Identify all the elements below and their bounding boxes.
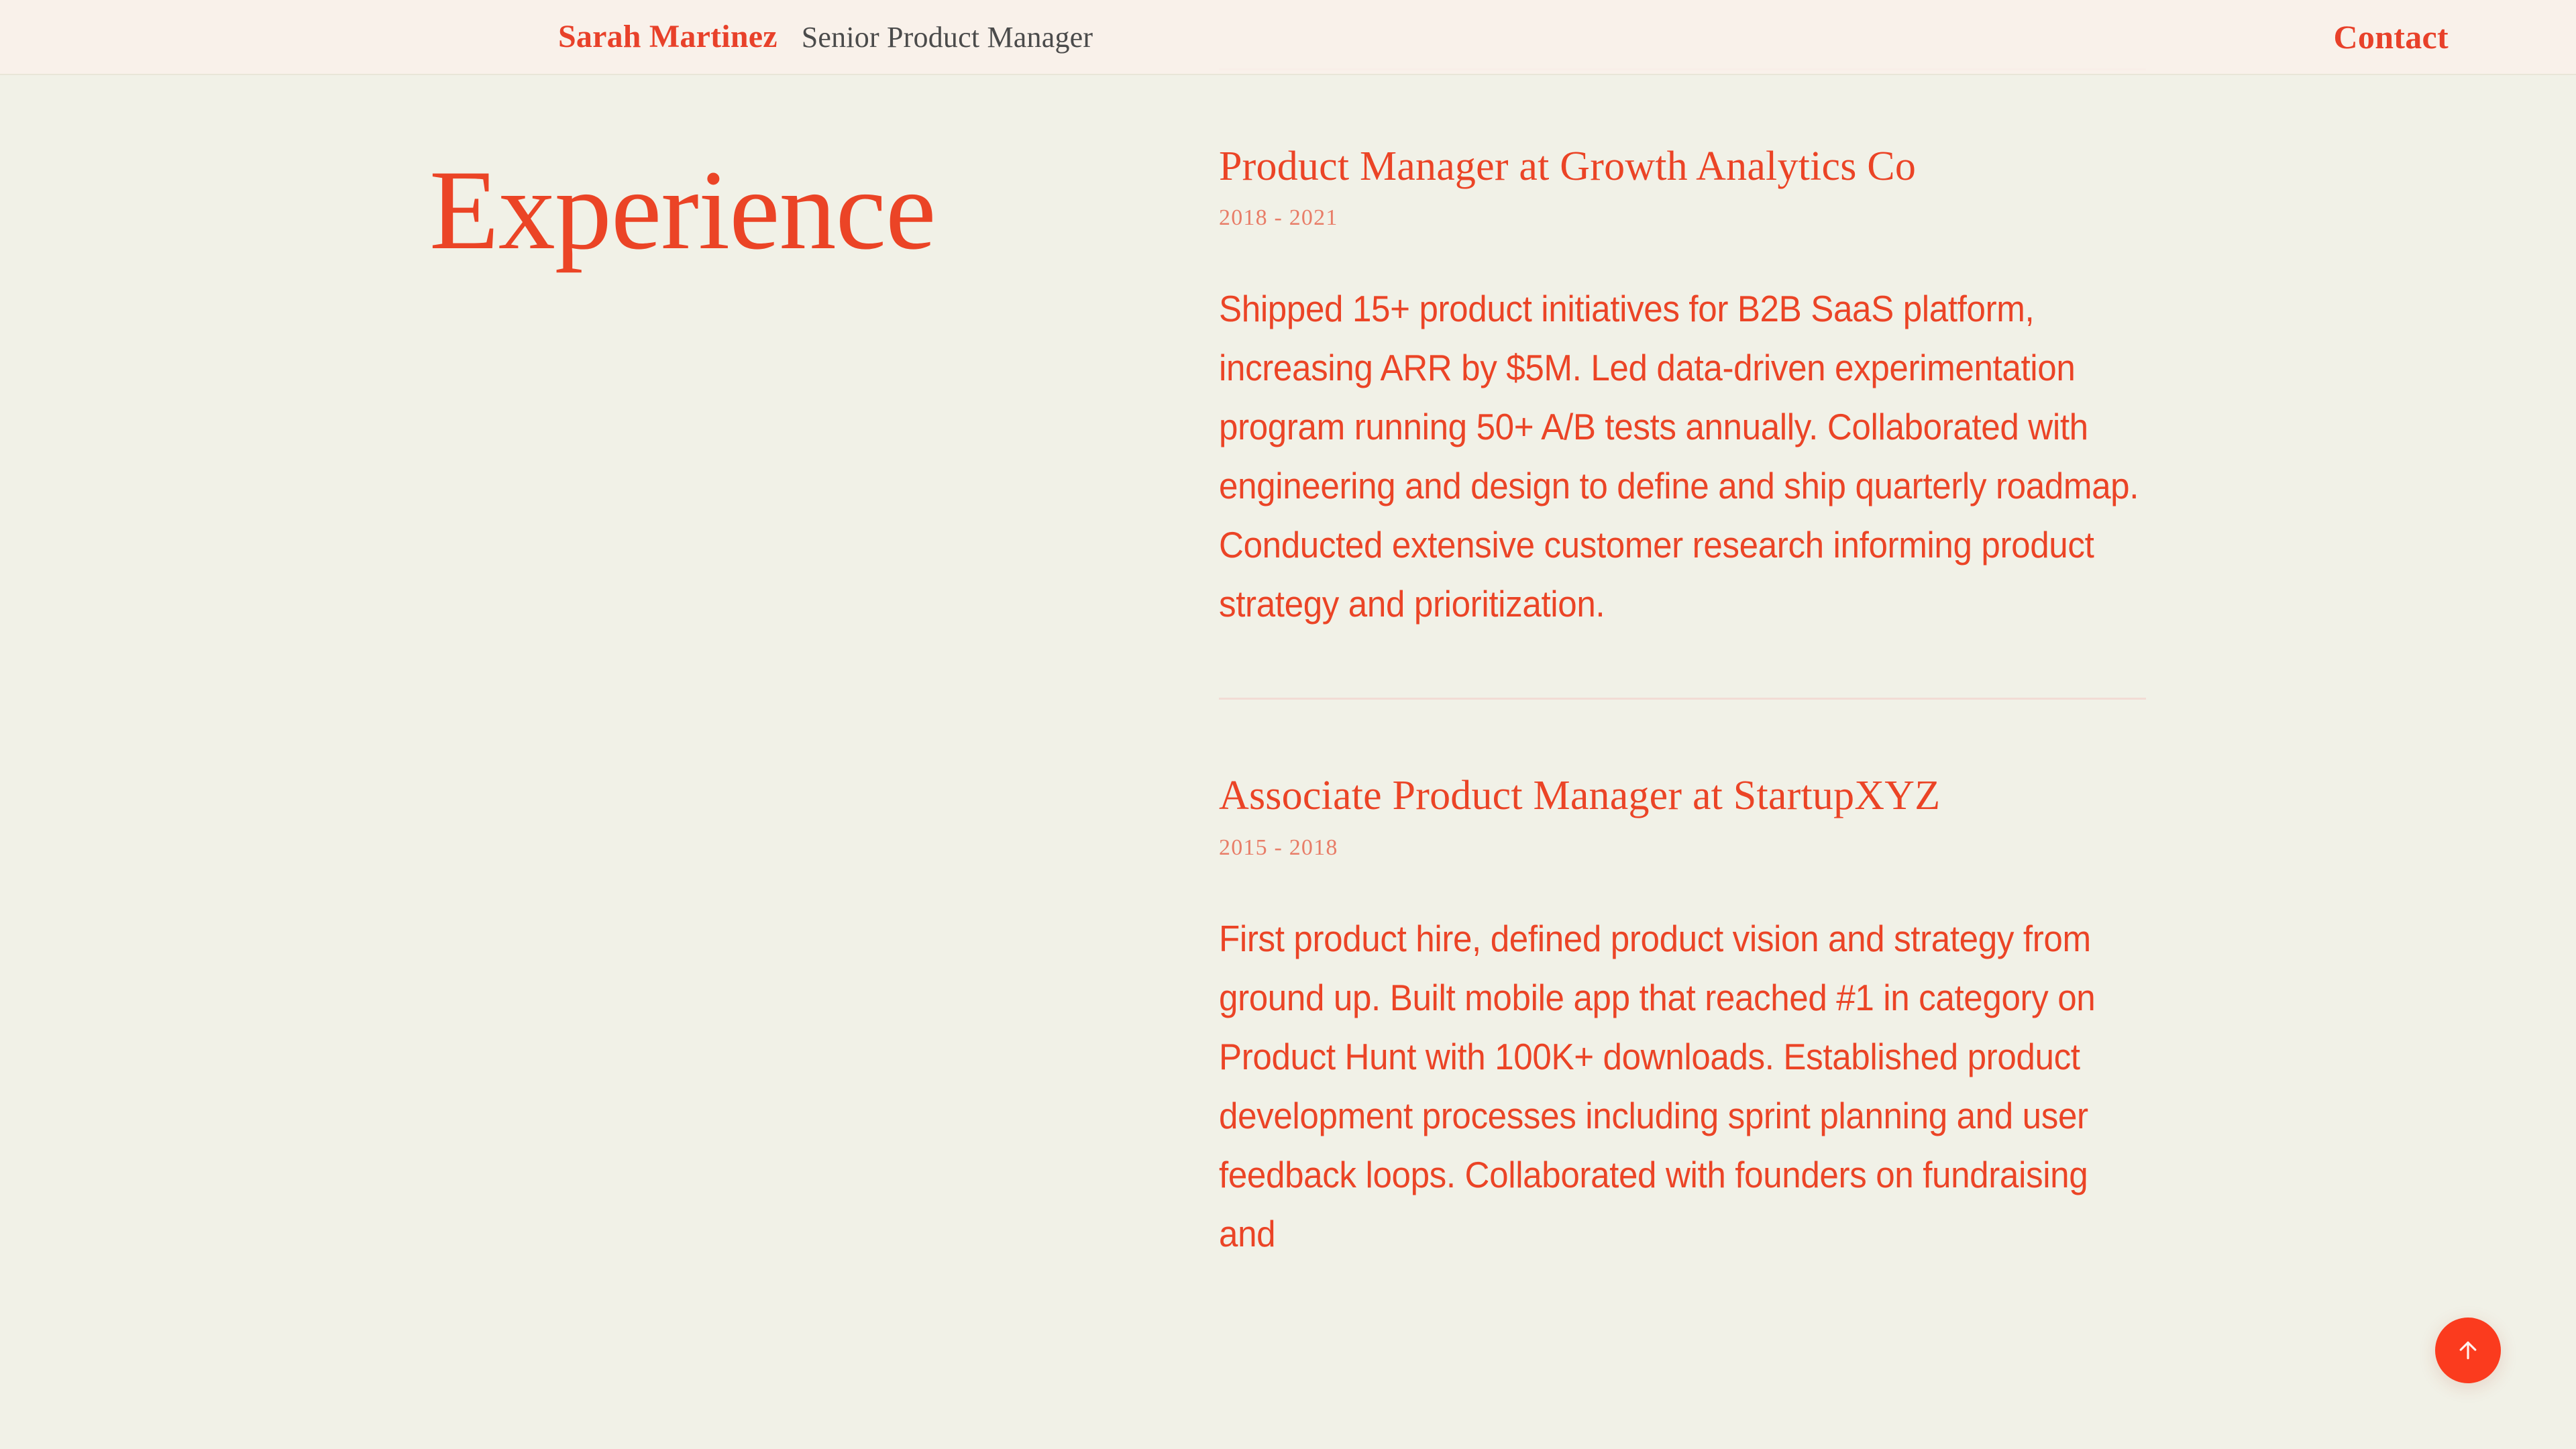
entry-date-range: 2015 - 2018 <box>1219 837 2148 859</box>
section-title-column: Experience <box>429 153 1167 267</box>
arrow-up-icon <box>2455 1337 2481 1364</box>
main-content: Experience engineers, designers, and ana… <box>0 0 2576 1449</box>
entry-date-range: 2018 - 2021 <box>1219 207 2148 229</box>
experience-entry: Associate Product Manager at StartupXYZ … <box>1219 772 2148 1263</box>
experience-entry: Product Manager at Growth Analytics Co 2… <box>1219 143 2148 633</box>
brand-role: Senior Product Manager <box>802 23 1093 52</box>
experience-entries-list: engineers, designers, and analysts. Defi… <box>1219 0 2148 1263</box>
entry-job-title: Product Manager at Growth Analytics Co <box>1219 143 2148 191</box>
nav-link-contact[interactable]: Contact <box>2333 20 2449 54</box>
scroll-to-top-button[interactable] <box>2435 1318 2501 1383</box>
site-header: Sarah Martinez Senior Product Manager Co… <box>0 0 2576 75</box>
entry-description: First product hire, defined product visi… <box>1219 909 2148 1263</box>
brand[interactable]: Sarah Martinez Senior Product Manager <box>558 21 1093 53</box>
page-title: Experience <box>429 153 1167 267</box>
entry-divider <box>1219 698 2146 700</box>
page-root: Experience engineers, designers, and ana… <box>0 0 2576 1449</box>
entry-job-title: Associate Product Manager at StartupXYZ <box>1219 772 2148 820</box>
brand-name[interactable]: Sarah Martinez <box>558 21 777 53</box>
primary-nav: Contact <box>2333 20 2449 54</box>
entry-description: Shipped 15+ product initiatives for B2B … <box>1219 279 2148 633</box>
